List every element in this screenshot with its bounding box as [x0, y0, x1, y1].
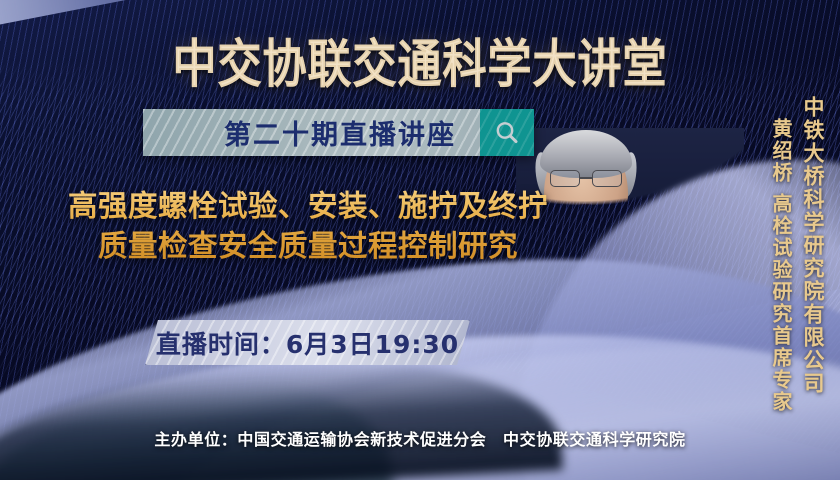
- speaker-glasses: [550, 170, 622, 187]
- headline: 高强度螺栓试验、安装、施拧及终拧 质量检查安全质量过程控制研究: [8, 186, 608, 266]
- broadcast-time-badge: 直播时间：6月3日19:30: [145, 320, 470, 365]
- flower-rose: [684, 304, 704, 323]
- headline-line-1: 高强度螺栓试验、安装、施拧及终拧: [8, 186, 608, 226]
- flower-rose: [562, 306, 584, 326]
- organizer-footer: 主办单位：中国交通运输协会新技术促进分会 中交协联交通科学研究院: [0, 426, 840, 450]
- speaker-name-role: 黄绍桥 高栓试验研究首席专家: [767, 118, 796, 413]
- flower-rose: [524, 324, 544, 342]
- flower-rose: [654, 312, 676, 332]
- live-stream-poster: 中交协联交通科学大讲堂 第二十期直播讲座 高强度螺栓试验、安装、施拧及终拧 质量…: [0, 0, 840, 480]
- page-title: 中交协联交通科学大讲堂: [0, 22, 840, 98]
- broadcast-time-text: 直播时间：6月3日19:30: [156, 325, 459, 361]
- search-icon: [493, 119, 521, 147]
- flower-rose: [608, 302, 632, 324]
- session-bar-label-area: 第二十期直播讲座: [143, 109, 480, 156]
- session-bar-label: 第二十期直播讲座: [224, 113, 456, 152]
- headline-line-2: 质量检查安全质量过程控制研究: [8, 226, 608, 266]
- search-icon-button[interactable]: [480, 109, 534, 156]
- speaker-organization: 中铁大桥科学研究院有限公司: [798, 96, 828, 395]
- session-bar[interactable]: 第二十期直播讲座: [143, 109, 534, 156]
